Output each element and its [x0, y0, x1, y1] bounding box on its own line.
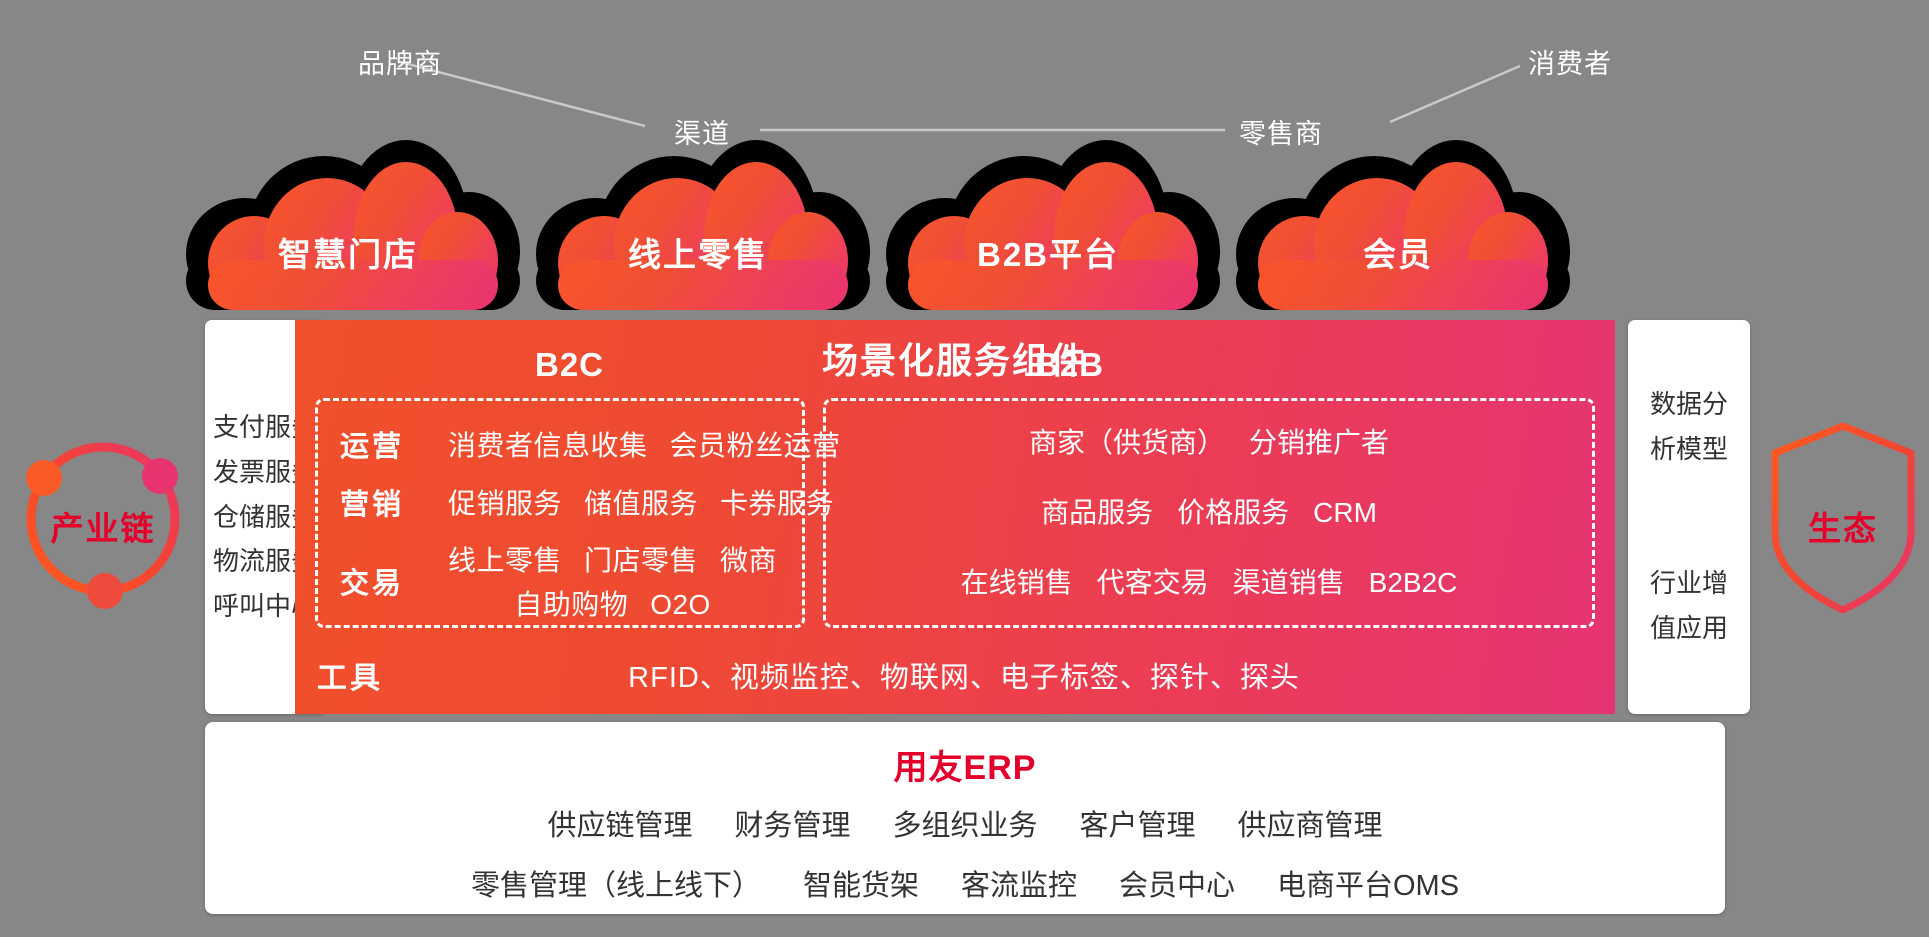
core-panel-title: 场景化服务组件: [295, 332, 1615, 384]
erp-item: 财务管理: [734, 810, 850, 842]
b2c-row-label: 营销: [340, 481, 448, 523]
b2c-item: 储值服务: [584, 488, 698, 519]
cloud-fill: [1228, 140, 1568, 310]
erp-item: 供应商管理: [1238, 810, 1383, 842]
b2c-row-label: 交易: [340, 560, 448, 602]
b2c-item: 线上零售: [448, 545, 562, 576]
erp-item: 客流监控: [961, 870, 1077, 902]
b2c-row-transaction: 交易 线上零售门店零售微商 自助购物O2O: [340, 539, 786, 623]
b2c-section-title: B2C: [535, 346, 604, 384]
cloud-b2b-platform[interactable]: B2B平台: [878, 140, 1218, 310]
b2b-row: 在线销售代客交易渠道销售B2B2C: [961, 561, 1458, 601]
b2c-row-items: 线上零售门店零售微商 自助购物O2O: [448, 539, 777, 623]
erp-item: 智能货架: [803, 870, 919, 902]
cloud-label: 智慧门店: [178, 228, 518, 276]
top-label-consumer: 消费者: [1528, 42, 1612, 81]
b2b-row: 商家（供货商）分销推广者: [1029, 421, 1389, 461]
tools-row: 工具 RFID、视频监控、物联网、电子标签、探针、探头: [317, 648, 1593, 702]
b2b-item: B2B2C: [1369, 567, 1458, 598]
tools-row-label: 工具: [317, 653, 425, 697]
connector-lines: [0, 0, 1929, 160]
erp-title: 用友ERP: [205, 740, 1725, 789]
cloud-fill: [528, 140, 868, 310]
b2c-item: O2O: [650, 589, 711, 620]
cloud-member[interactable]: 会员: [1228, 140, 1568, 310]
cloud-fill: [878, 140, 1218, 310]
cloud-fill: [178, 140, 518, 310]
b2b-item: 价格服务: [1177, 497, 1289, 528]
ecosystem-badge: 生态: [1768, 420, 1918, 616]
right-panel-item: 数据分: [1650, 382, 1728, 427]
b2c-item: 促销服务: [448, 488, 562, 519]
cloud-label: 线上零售: [528, 228, 868, 276]
erp-item: 零售管理（线上线下）: [471, 870, 761, 902]
erp-item: 供应链管理: [547, 810, 692, 842]
erp-item: 会员中心: [1119, 870, 1235, 902]
right-panel-item: 析模型: [1650, 427, 1728, 472]
cloud-row: 智慧门店 线上零售: [0, 140, 1929, 320]
b2b-group-box: 商家（供货商）分销推广者 商品服务价格服务CRM 在线销售代客交易渠道销售B2B…: [823, 398, 1595, 628]
erp-line-2: 零售管理（线上线下）智能货架客流监控会员中心电商平台OMS: [205, 862, 1725, 904]
cloud-label: B2B平台: [878, 228, 1218, 276]
erp-panel: 用友ERP 供应链管理财务管理多组织业务客户管理供应商管理 零售管理（线上线下）…: [205, 722, 1725, 914]
ecosystem-label: 生态: [1768, 502, 1918, 550]
b2c-item: 微商: [720, 545, 777, 576]
b2b-item: 商品服务: [1041, 497, 1153, 528]
core-service-components-panel: 场景化服务组件 B2C B2B 运营 消费者信息收集会员粉丝运营 营销 促销服务…: [295, 320, 1615, 714]
b2c-item: 自助购物: [514, 589, 628, 620]
b2b-rows: 商家（供货商）分销推广者 商品服务价格服务CRM 在线销售代客交易渠道销售B2B…: [840, 421, 1578, 601]
b2c-item: 卡券服务: [720, 488, 834, 519]
diagram-canvas: 品牌商 渠道 零售商 消费者 智慧门店: [0, 0, 1929, 937]
cloud-smart-store[interactable]: 智慧门店: [178, 140, 518, 310]
b2c-row-label: 运营: [340, 423, 448, 465]
b2b-item: 商家（供货商）: [1029, 427, 1225, 458]
right-panel-item: 值应用: [1650, 606, 1728, 651]
industry-chain-badge: 产业链: [8, 424, 198, 614]
b2b-item: 在线销售: [961, 567, 1073, 598]
b2c-item: 门店零售: [584, 545, 698, 576]
b2b-item: 渠道销售: [1233, 567, 1345, 598]
top-label-brand: 品牌商: [358, 42, 442, 81]
tools-row-text: RFID、视频监控、物联网、电子标签、探针、探头: [425, 654, 1593, 696]
b2b-section-title: B2B: [1035, 346, 1104, 384]
erp-item: 多组织业务: [892, 810, 1037, 842]
erp-line-1: 供应链管理财务管理多组织业务客户管理供应商管理: [205, 802, 1725, 844]
b2c-group-box: 运营 消费者信息收集会员粉丝运营 营销 促销服务储值服务卡券服务 交易: [315, 398, 805, 628]
b2c-row-marketing: 营销 促销服务储值服务卡券服务: [340, 481, 786, 523]
right-analytics-panel: 数据分 析模型 行业增 值应用: [1628, 320, 1750, 714]
b2c-row-operations: 运营 消费者信息收集会员粉丝运营: [340, 423, 786, 465]
b2c-item: 消费者信息收集: [448, 430, 648, 461]
right-panel-item: 行业增: [1650, 561, 1728, 606]
cloud-label: 会员: [1228, 228, 1568, 276]
b2b-row: 商品服务价格服务CRM: [1041, 491, 1377, 531]
industry-chain-label: 产业链: [8, 502, 198, 550]
b2c-item: 会员粉丝运营: [670, 430, 841, 461]
cloud-online-retail[interactable]: 线上零售: [528, 140, 868, 310]
b2c-row-items: 促销服务储值服务卡券服务: [448, 482, 834, 522]
b2b-item: CRM: [1313, 497, 1377, 528]
b2c-rows: 运营 消费者信息收集会员粉丝运营 营销 促销服务储值服务卡券服务 交易: [340, 423, 786, 623]
b2b-item: 代客交易: [1097, 567, 1209, 598]
b2b-item: 分销推广者: [1249, 427, 1389, 458]
b2c-row-items: 消费者信息收集会员粉丝运营: [448, 424, 841, 464]
erp-item: 客户管理: [1080, 810, 1196, 842]
erp-item: 电商平台OMS: [1277, 870, 1459, 902]
